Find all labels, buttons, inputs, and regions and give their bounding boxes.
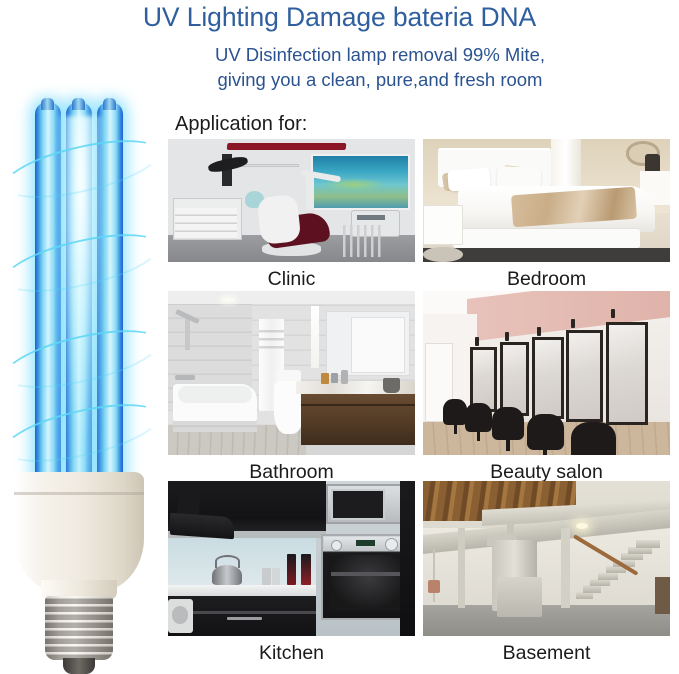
application-item-bedroom: Bedroom	[423, 139, 670, 291]
lamp-contact-tip	[63, 658, 95, 674]
photo-kitchen	[168, 481, 415, 636]
lamp-tube-cap-right	[103, 98, 116, 110]
application-item-beauty-salon: Beauty salon	[423, 291, 670, 484]
page-title: UV Lighting Damage bateria DNA	[0, 2, 679, 33]
application-grid: Clinic Bedroom	[168, 139, 676, 668]
application-item-basement: Basement	[423, 481, 670, 665]
lamp-tube-cap-left	[41, 98, 54, 110]
lamp-base-seam	[14, 492, 144, 495]
photo-basement	[423, 481, 670, 636]
photo-beauty-salon	[423, 291, 670, 455]
application-item-bathroom: Bathroom	[168, 291, 415, 484]
application-item-kitchen: Kitchen	[168, 481, 415, 665]
subtitle-line-1: UV Disinfection lamp removal 99% Mite,	[215, 44, 545, 65]
lamp-base-housing	[14, 472, 144, 592]
photo-bathroom	[168, 291, 415, 455]
caption-kitchen: Kitchen	[168, 636, 415, 665]
application-item-clinic: Clinic	[168, 139, 415, 291]
caption-basement: Basement	[423, 636, 670, 665]
lamp-tube-cap-center	[72, 98, 85, 110]
photo-bedroom	[423, 139, 670, 262]
caption-bathroom: Bathroom	[168, 455, 415, 484]
page-subtitle: UV Disinfection lamp removal 99% Mite, g…	[120, 42, 640, 92]
caption-beauty-salon: Beauty salon	[423, 455, 670, 484]
caption-bedroom: Bedroom	[423, 262, 670, 291]
photo-clinic	[168, 139, 415, 262]
application-label: Application for:	[175, 113, 307, 136]
subtitle-line-2: giving you a clean, pure,and fresh room	[120, 67, 640, 92]
product-image-uv-lamp	[0, 80, 165, 668]
caption-clinic: Clinic	[168, 262, 415, 291]
lamp-e26-screw-base	[45, 596, 113, 660]
